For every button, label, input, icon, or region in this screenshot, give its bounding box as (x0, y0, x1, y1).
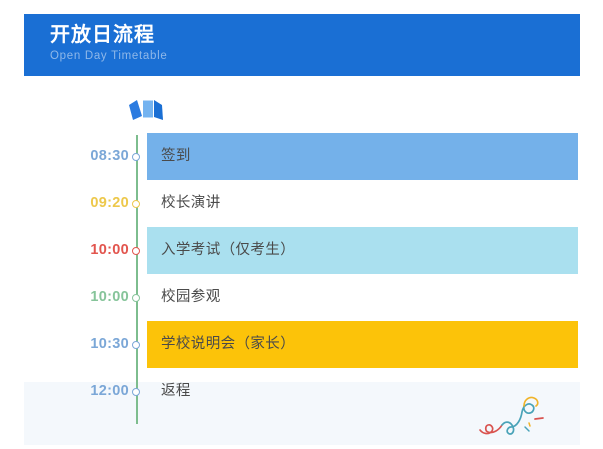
timeline-row-time: 10:00 (60, 227, 129, 274)
book-icon (126, 96, 170, 124)
timeline-row-time: 08:30 (60, 133, 129, 180)
timetable-page: 开放日流程 Open Day Timetable 08:30 签到 09:20 … (0, 0, 603, 449)
timeline-row: 10:00 校园参观 (0, 274, 603, 321)
timeline-row-label: 学校说明会（家长） (161, 321, 295, 368)
timeline-row: 10:00 入学考试（仅考生） (0, 227, 603, 274)
timeline-row-time: 10:30 (60, 321, 129, 368)
timeline-row: 08:30 签到 (0, 133, 603, 180)
timeline-row-marker (132, 153, 140, 161)
timeline-row-label: 入学考试（仅考生） (161, 227, 295, 274)
timeline: 08:30 签到 09:20 校长演讲 10:00 入学考试（仅考生） 10:0… (0, 133, 603, 425)
timeline-row-marker (132, 200, 140, 208)
timeline-row-label: 返程 (161, 368, 191, 415)
timeline-row-label: 校园参观 (161, 274, 221, 321)
timeline-row: 09:20 校长演讲 (0, 180, 603, 227)
timeline-row-marker (132, 341, 140, 349)
timeline-row-label: 校长演讲 (161, 180, 221, 227)
timeline-row-highlight (147, 133, 578, 180)
timeline-row-marker (132, 247, 140, 255)
timeline-row: 10:30 学校说明会（家长） (0, 321, 603, 368)
timeline-row-time: 09:20 (60, 180, 129, 227)
timeline-row-time: 10:00 (60, 274, 129, 321)
timeline-row-time: 12:00 (60, 368, 129, 415)
timeline-row-marker (132, 294, 140, 302)
page-header-banner: 开放日流程 Open Day Timetable (24, 14, 580, 76)
timeline-row-marker (132, 388, 140, 396)
page-subtitle: Open Day Timetable (50, 49, 580, 64)
timeline-row-label: 签到 (161, 133, 191, 180)
page-title: 开放日流程 (50, 23, 580, 48)
squiggle-doodle-icon (477, 392, 555, 442)
